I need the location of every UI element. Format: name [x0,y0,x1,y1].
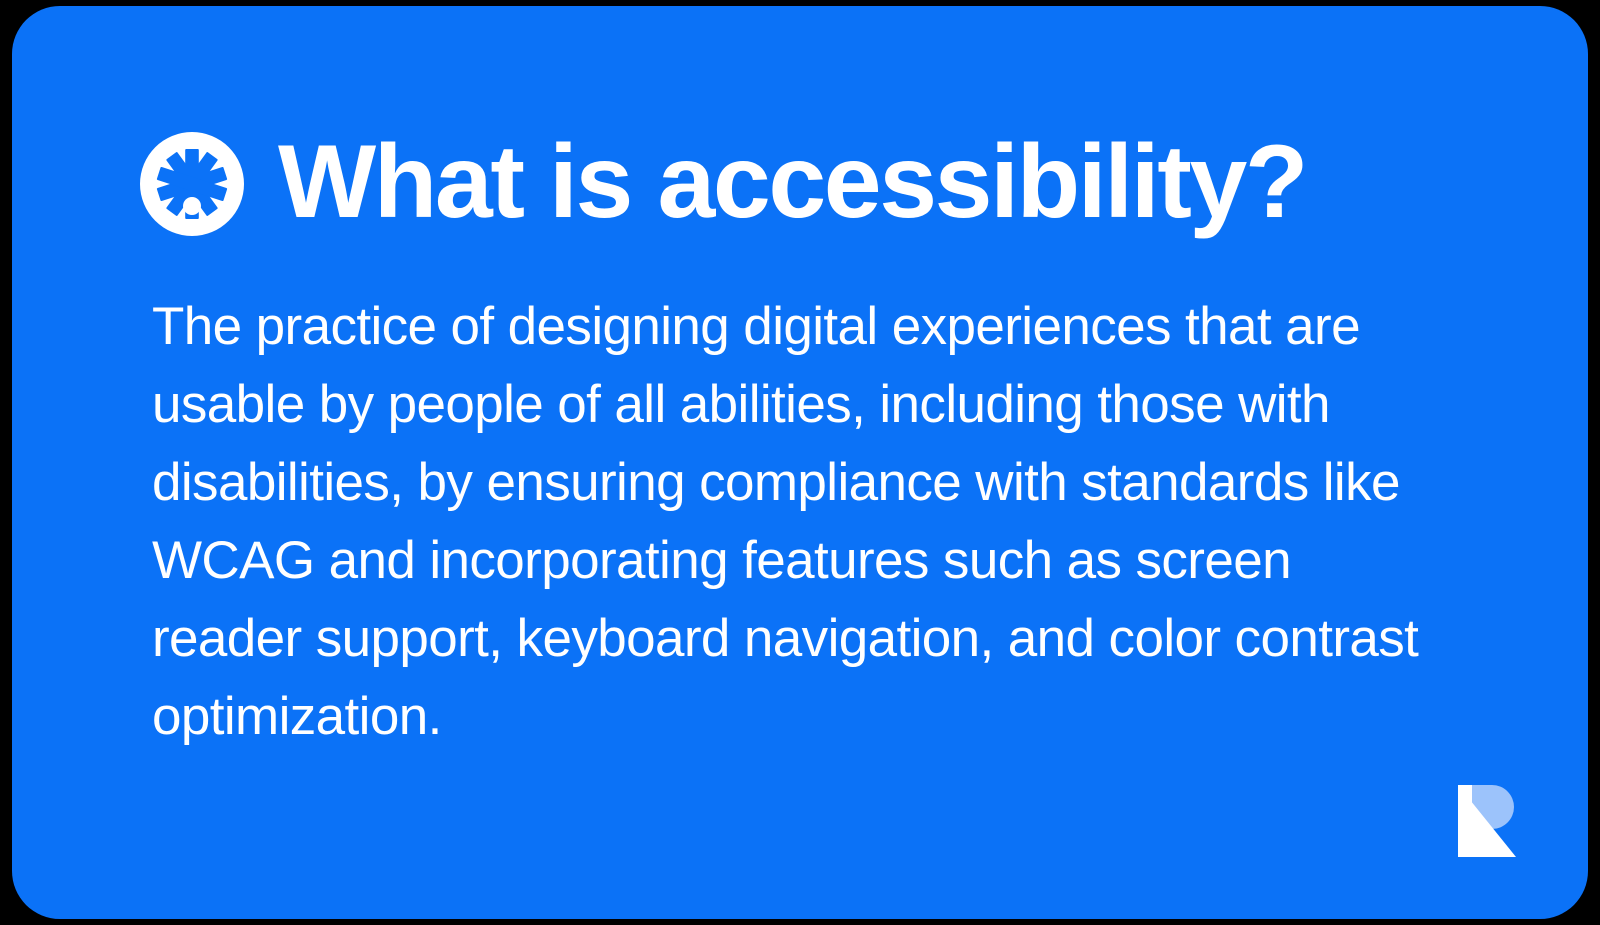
page-title: What is accessibility? [278,130,1306,234]
card-header: What is accessibility? [140,114,1306,250]
accessibility-definition-card: What is accessibility? The practice of d… [12,6,1588,919]
body-paragraph: The practice of designing digital experi… [152,288,1442,756]
asterisk-icon [140,132,244,236]
r-logo-icon [1456,785,1534,857]
